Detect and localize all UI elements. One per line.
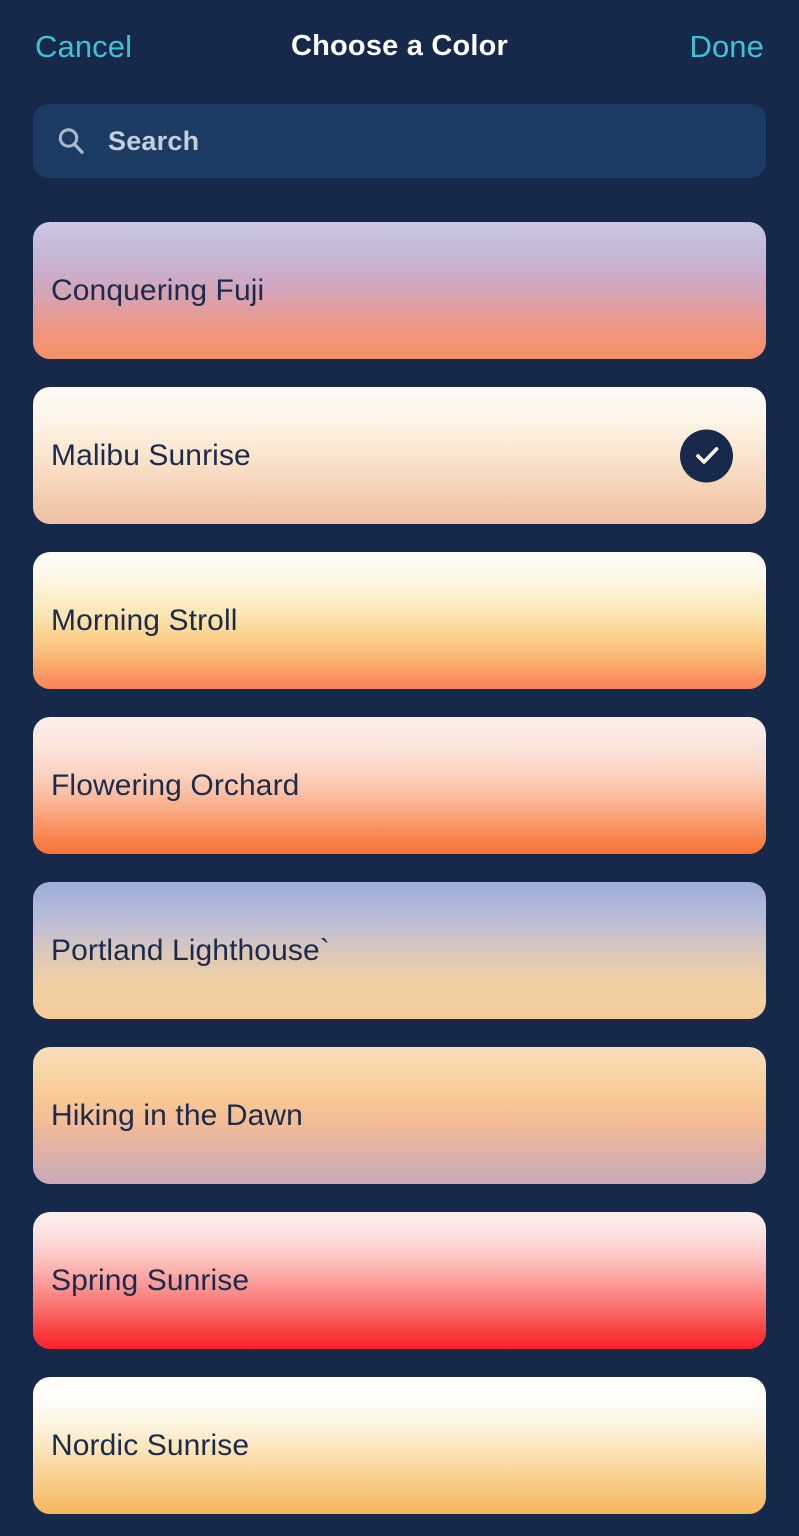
color-card-label: Conquering Fuji (51, 274, 264, 308)
color-card[interactable]: Morning Stroll (33, 552, 766, 689)
color-card[interactable]: Portland Lighthouse` (33, 882, 766, 1019)
color-card[interactable]: Spring Sunrise (33, 1212, 766, 1349)
check-icon (692, 441, 722, 471)
color-card-label: Malibu Sunrise (51, 439, 251, 473)
color-card[interactable]: Conquering Fuji (33, 222, 766, 359)
color-list: Conquering FujiMalibu SunriseMorning Str… (0, 222, 799, 1514)
color-card[interactable]: Flowering Orchard (33, 717, 766, 854)
color-card-label: Nordic Sunrise (51, 1429, 249, 1463)
color-card-label: Hiking in the Dawn (51, 1099, 303, 1133)
color-card[interactable]: Malibu Sunrise (33, 387, 766, 524)
cancel-button[interactable]: Cancel (33, 25, 134, 68)
done-button[interactable]: Done (687, 25, 766, 68)
search-container: Search (0, 104, 799, 178)
navigation-bar: Cancel Choose a Color Done (0, 0, 799, 92)
color-card-label: Portland Lighthouse` (51, 934, 330, 968)
search-icon (55, 125, 87, 157)
color-card-label: Spring Sunrise (51, 1264, 249, 1298)
selected-check-badge (680, 429, 733, 482)
search-placeholder: Search (108, 126, 199, 157)
color-card[interactable]: Nordic Sunrise (33, 1377, 766, 1514)
color-card[interactable]: Hiking in the Dawn (33, 1047, 766, 1184)
search-input[interactable]: Search (33, 104, 766, 178)
color-card-label: Flowering Orchard (51, 769, 299, 803)
color-card-label: Morning Stroll (51, 604, 237, 638)
